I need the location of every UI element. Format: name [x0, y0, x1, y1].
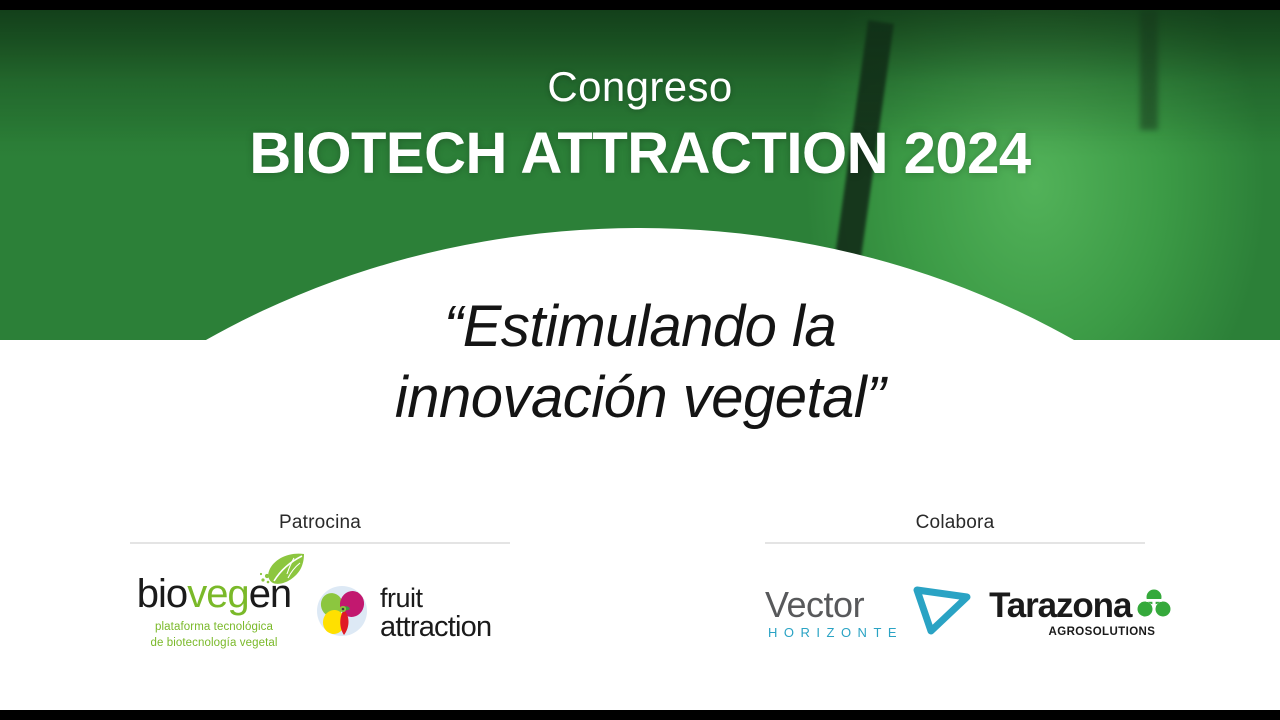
quote-line-1: “Estimulando la — [444, 294, 836, 359]
fruit-attraction-line-1: fruit — [380, 585, 491, 612]
fruit-cluster-icon — [314, 583, 370, 644]
clover-icon — [1137, 588, 1171, 623]
logo-tarazona[interactable]: Tarazona AGROSOLUTIONS — [989, 588, 1171, 638]
biovegen-tagline-line-2: de biotecnología vegetal — [130, 636, 298, 652]
quote-line-2: innovación vegetal” — [0, 363, 1280, 434]
fruit-attraction-line-2: attraction — [380, 613, 491, 642]
slide-quote: “Estimulando la innovación vegetal” — [0, 292, 1280, 434]
patrocina-logos: biovegen — [130, 568, 510, 658]
biovegen-tagline-line-1: plataforma tecnológica — [130, 620, 298, 636]
biovegen-wordmark: biovegen — [130, 574, 298, 614]
patrocina-divider — [130, 542, 510, 544]
tarazona-line-2: AGROSOLUTIONS — [989, 626, 1155, 638]
letterbox-bottom — [0, 710, 1280, 720]
logo-fruit-attraction[interactable]: fruit attraction — [314, 583, 510, 644]
logo-vector-horizonte[interactable]: Vector HORIZONTE — [765, 584, 973, 643]
colabora-divider — [765, 542, 1145, 544]
colabora-logos: Vector HORIZONTE Tarazona — [765, 568, 1145, 658]
tarazona-line-1: Tarazona — [989, 588, 1131, 623]
presentation-slide: Congreso BIOTECH ATTRACTION 2024 “Estimu… — [0, 0, 1280, 720]
patrocina-label: Patrocina — [130, 512, 510, 534]
leaf-icon — [260, 552, 306, 593]
tarazona-top-row: Tarazona — [989, 588, 1171, 623]
letterbox-top — [0, 0, 1280, 10]
biovegen-word-bio: bio — [137, 572, 187, 616]
vector-horizonte-line-1: Vector — [765, 587, 903, 623]
colabora-column: Colabora Vector HORIZONTE — [765, 512, 1145, 658]
logo-biovegen[interactable]: biovegen — [130, 574, 298, 651]
sponsors-section: Patrocina biovegen — [0, 512, 1280, 702]
biovegen-word-veg: veg — [187, 572, 249, 616]
vector-horizonte-line-2: HORIZONTE — [768, 626, 903, 639]
fruit-attraction-wordmark: fruit attraction — [380, 585, 491, 642]
vector-horizonte-wordmark: Vector HORIZONTE — [765, 587, 903, 639]
hero-image — [0, 10, 1280, 340]
colabora-label: Colabora — [765, 512, 1145, 534]
biovegen-tagline: plataforma tecnológica de biotecnología … — [130, 620, 298, 651]
play-triangle-icon — [911, 584, 973, 643]
patrocina-column: Patrocina biovegen — [130, 512, 510, 658]
